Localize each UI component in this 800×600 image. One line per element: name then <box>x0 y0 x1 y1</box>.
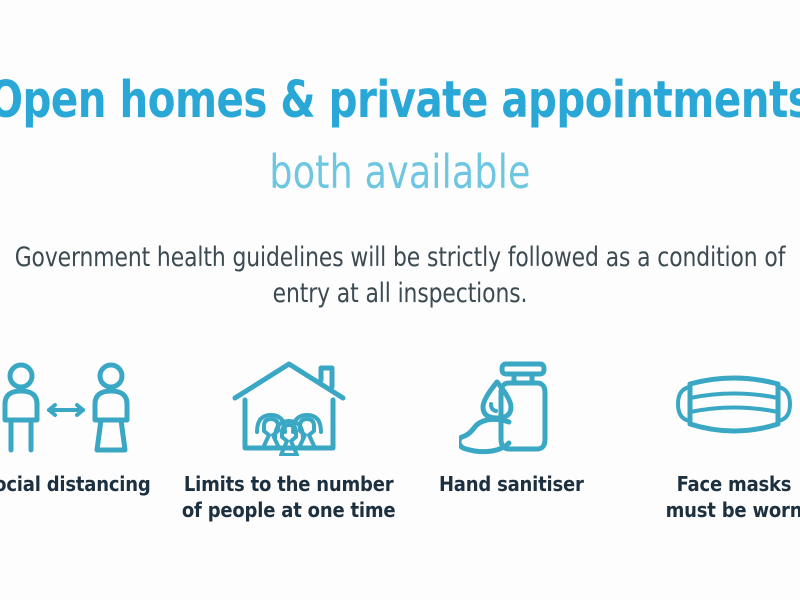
poster-canvas: Open homes & private appointments both a… <box>0 0 800 600</box>
guideline-item-hand-sanitiser: Hand sanitiser <box>403 358 619 498</box>
body-copy: Government health guidelines will be str… <box>0 240 800 311</box>
guideline-caption-social-distancing: Social distancing <box>0 472 151 498</box>
body-copy-line-2: entry at all inspections. <box>0 276 800 312</box>
guideline-caption-hand-sanitiser: Hand sanitiser <box>439 472 584 498</box>
guideline-item-occupancy-limit: Limits to the number of people at one ti… <box>181 358 397 523</box>
body-copy-line-1: Government health guidelines will be str… <box>0 240 800 276</box>
social-distancing-icon <box>0 358 141 458</box>
hand-sanitiser-icon <box>459 358 563 458</box>
house-occupancy-limit-icon <box>231 358 347 458</box>
guideline-item-face-mask: Face masks must be worn <box>626 358 800 523</box>
page-title: Open homes & private appointments <box>0 74 800 128</box>
guideline-caption-face-mask: Face masks must be worn <box>666 472 800 523</box>
guideline-icon-row: Social distancing <box>0 358 800 523</box>
guideline-caption-occupancy-limit: Limits to the number of people at one ti… <box>182 472 396 523</box>
face-mask-icon <box>668 358 800 458</box>
guideline-item-social-distancing: Social distancing <box>0 358 174 498</box>
page-subtitle: both available <box>0 145 800 199</box>
